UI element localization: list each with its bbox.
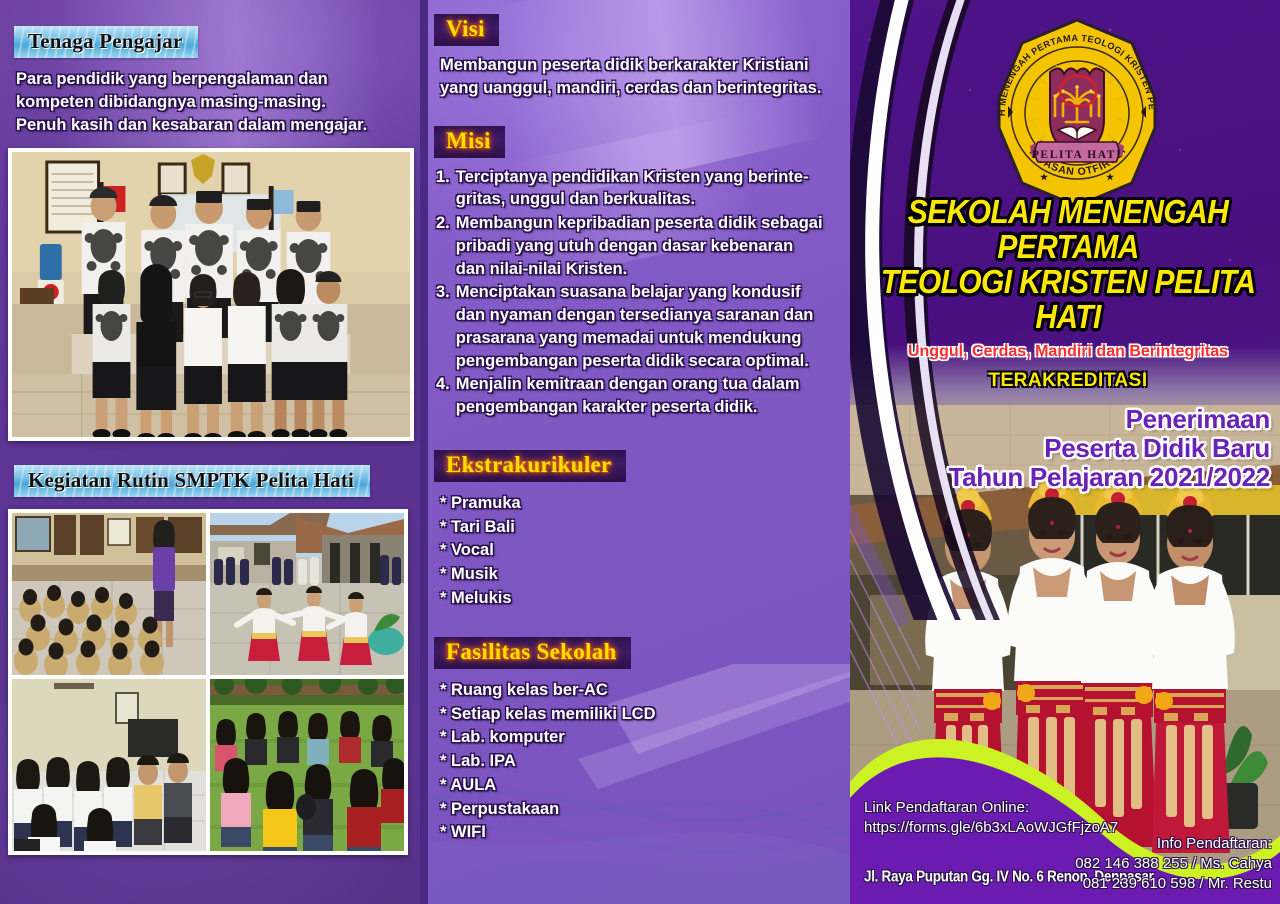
contact-block: Info Pendaftaran: 082 146 388 255 / Ms. … — [1075, 834, 1272, 893]
school-tagline: Unggul, Cerdas, Mandiri dan Berintegrita… — [856, 343, 1280, 361]
facilities-item: * Lab. IPA — [440, 750, 850, 773]
teachers-line-2: kompeten dibidangnya masing-masing. — [16, 91, 408, 114]
activity-photo-2 — [210, 513, 404, 675]
vision-line-2: yang uanggul, mandiri, cerdas dan berint… — [440, 77, 850, 100]
teachers-photo-illustration — [12, 152, 410, 437]
mission-item-2-number: 2. — [436, 212, 450, 280]
mission-item-3: 3. Menciptakan suasana belajar yang kond… — [436, 281, 850, 372]
extracurricular-item: * Melukis — [440, 587, 850, 610]
extracurricular-item: * Musik — [440, 563, 850, 586]
admission-line-2: Peserta Didik Baru — [870, 434, 1270, 463]
vision-header: Visi — [434, 14, 499, 46]
teachers-photo — [12, 152, 410, 437]
facilities-item: * Setiap kelas memiliki LCD — [440, 703, 850, 726]
teachers-line-3: Penuh kasih dan kesabaran dalam mengajar… — [16, 114, 408, 137]
vision-line-1: Membangun peserta didik berkarakter Kris… — [440, 54, 850, 77]
facilities-list: * Ruang kelas ber-AC * Setiap kelas memi… — [440, 679, 850, 844]
svg-text:★: ★ — [1040, 172, 1049, 182]
mission-list: 1. Terciptanya pendidikan Kristen yang b… — [436, 166, 850, 419]
facilities-item: * Perpustakaan — [440, 798, 850, 821]
activities-photo-grid-frame — [8, 509, 408, 855]
mission-item-1: 1. Terciptanya pendidikan Kristen yang b… — [436, 166, 850, 212]
admission-block: Penerimaan Peserta Didik Baru Tahun Pela… — [870, 405, 1270, 492]
mission-item-2: 2. Membangun kepribadian peserta didik s… — [436, 212, 850, 280]
activity-photo-1 — [12, 513, 206, 675]
mid-panel: Visi Membangun peserta didik berkarakter… — [420, 0, 850, 904]
activity-photo-2-illustration — [210, 513, 404, 675]
activity-photo-3 — [12, 679, 206, 851]
mission-header: Misi — [434, 126, 505, 158]
accreditation-badge: TERAKREDITASI — [856, 370, 1280, 392]
mission-item-2-text: Membangun kepribadian peserta didik seba… — [456, 212, 850, 280]
brochure-page: Tenaga Pengajar Para pendidik yang berpe… — [0, 0, 1280, 904]
teachers-line-1: Para pendidik yang berpengalaman dan — [16, 68, 408, 91]
info-label: Info Pendaftaran: — [1075, 834, 1272, 854]
admission-line-3: Tahun Pelajaran 2021/2022 — [870, 463, 1270, 492]
activity-photo-4 — [210, 679, 404, 851]
right-panel: SEKOLAH MENENGAH PERTAMA TEOLOGI KRISTEN… — [850, 0, 1280, 904]
facilities-item: * WIFI — [440, 821, 850, 844]
school-title-block: SEKOLAH MENENGAH PERTAMA TEOLOGI KRISTEN… — [856, 200, 1280, 392]
facilities-header: Fasilitas Sekolah — [434, 637, 631, 669]
contact-phone-1[interactable]: 082 146 388 255 / Ms. Cahya — [1075, 854, 1272, 874]
activity-photo-1-illustration — [12, 513, 206, 675]
facilities-item: * AULA — [440, 774, 850, 797]
extracurricular-item: * Vocal — [440, 539, 850, 562]
registration-block: Link Pendaftaran Online: https://forms.g… — [864, 798, 1118, 839]
mission-item-4: 4. Menjalin kemitraan dengan orang tua d… — [436, 373, 850, 419]
registration-label: Link Pendaftaran Online: — [864, 798, 1118, 818]
contact-phone-2[interactable]: 081 239 610 598 / Mr. Restu — [1075, 874, 1272, 894]
left-panel: Tenaga Pengajar Para pendidik yang berpe… — [0, 0, 420, 904]
school-name-line-2: TEOLOGI KRISTEN PELITA HATI — [856, 267, 1280, 336]
vision-text: Membangun peserta didik berkarakter Kris… — [440, 54, 850, 100]
facilities-item: * Lab. komputer — [440, 726, 850, 749]
activities-header: Kegiatan Rutin SMPTK Pelita Hati — [14, 465, 370, 497]
mission-item-4-text: Menjalin kemitraan dengan orang tua dala… — [456, 373, 850, 419]
teachers-header: Tenaga Pengajar — [14, 26, 198, 58]
activities-photo-grid — [12, 513, 404, 851]
extracurricular-list: * Pramuka * Tari Bali * Vocal * Musik * … — [440, 492, 850, 610]
extracurricular-item: * Tari Bali — [440, 516, 850, 539]
activity-photo-4-illustration — [210, 679, 404, 851]
school-logo: SEKOLAH MENENGAH PERTAMA TEOLOGI KRISTEN… — [982, 18, 1172, 208]
extracurricular-item: * Pramuka — [440, 492, 850, 515]
activity-photo-3-illustration — [12, 679, 206, 851]
school-name-line-1: SEKOLAH MENENGAH PERTAMA — [856, 196, 1280, 265]
mission-item-4-number: 4. — [436, 373, 450, 419]
svg-text:★: ★ — [1106, 172, 1115, 182]
logo-ribbon-text: PELITA HATI — [1032, 149, 1122, 161]
mission-item-1-text: Terciptanya pendidikan Kristen yang beri… — [456, 166, 850, 212]
facilities-item: * Ruang kelas ber-AC — [440, 679, 850, 702]
mission-item-1-number: 1. — [436, 166, 450, 212]
teachers-description: Para pendidik yang berpengalaman dan kom… — [16, 68, 408, 136]
mission-item-3-number: 3. — [436, 281, 450, 372]
admission-line-1: Penerimaan — [870, 405, 1270, 434]
extracurricular-header: Ekstrakurikuler — [434, 450, 626, 482]
mission-item-3-text: Menciptakan suasana belajar yang kondusi… — [456, 281, 850, 372]
teachers-photo-frame — [8, 148, 414, 441]
